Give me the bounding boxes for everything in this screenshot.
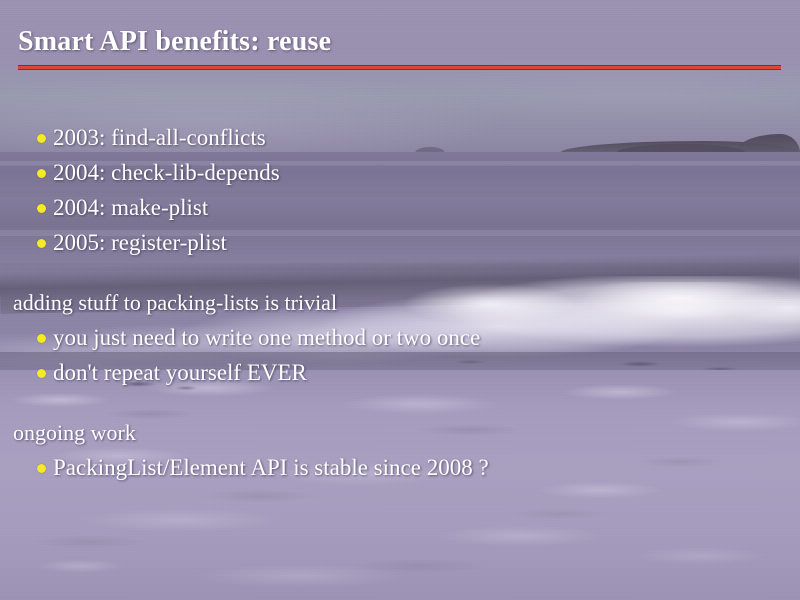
- bullet-icon: [37, 369, 46, 378]
- bullet-icon: [37, 134, 46, 143]
- page-title: Smart API benefits: reuse: [18, 26, 331, 58]
- list-item-label: ongoing work: [13, 420, 136, 445]
- list-item-label: adding stuff to packing-lists is trivial: [13, 290, 337, 315]
- list-item: ongoing work: [0, 415, 800, 450]
- list-item-label: you just need to write one method or two…: [53, 325, 480, 350]
- bullet-icon: [37, 204, 46, 213]
- bullet-icon: [37, 464, 46, 473]
- bullet-icon: [37, 169, 46, 178]
- list-item: 2004: check-lib-depends: [0, 155, 800, 190]
- presentation-slide: Smart API benefits: reuse 2003: find-all…: [0, 0, 800, 600]
- list-item: 2005: register-plist: [0, 225, 800, 260]
- list-item-label: 2003: find-all-conflicts: [53, 125, 266, 150]
- list-item: PackingList/Element API is stable since …: [0, 450, 800, 485]
- list-item-label: PackingList/Element API is stable since …: [53, 455, 489, 480]
- bullet-icon: [37, 239, 46, 248]
- list-item-label: 2004: make-plist: [53, 195, 208, 220]
- slide-content: Smart API benefits: reuse 2003: find-all…: [0, 0, 800, 600]
- list-item-label: 2004: check-lib-depends: [53, 160, 280, 185]
- list-item-label: don't repeat yourself EVER: [53, 360, 307, 385]
- block-milestones: 2003: find-all-conflicts 2004: check-lib…: [0, 120, 800, 260]
- list-item: 2003: find-all-conflicts: [0, 120, 800, 155]
- list-item: don't repeat yourself EVER: [0, 355, 800, 390]
- block-ongoing-work: ongoing work PackingList/Element API is …: [0, 415, 800, 485]
- title-underline-rule: [18, 65, 781, 70]
- list-item: you just need to write one method or two…: [0, 320, 800, 355]
- list-item-label: 2005: register-plist: [53, 230, 227, 255]
- block-packing-lists: adding stuff to packing-lists is trivial…: [0, 285, 800, 390]
- list-item: adding stuff to packing-lists is trivial: [0, 285, 800, 320]
- bullet-icon: [37, 334, 46, 343]
- block-gap: [0, 260, 800, 285]
- slide-body: 2003: find-all-conflicts 2004: check-lib…: [0, 120, 800, 485]
- block-gap: [0, 390, 800, 415]
- list-item: 2004: make-plist: [0, 190, 800, 225]
